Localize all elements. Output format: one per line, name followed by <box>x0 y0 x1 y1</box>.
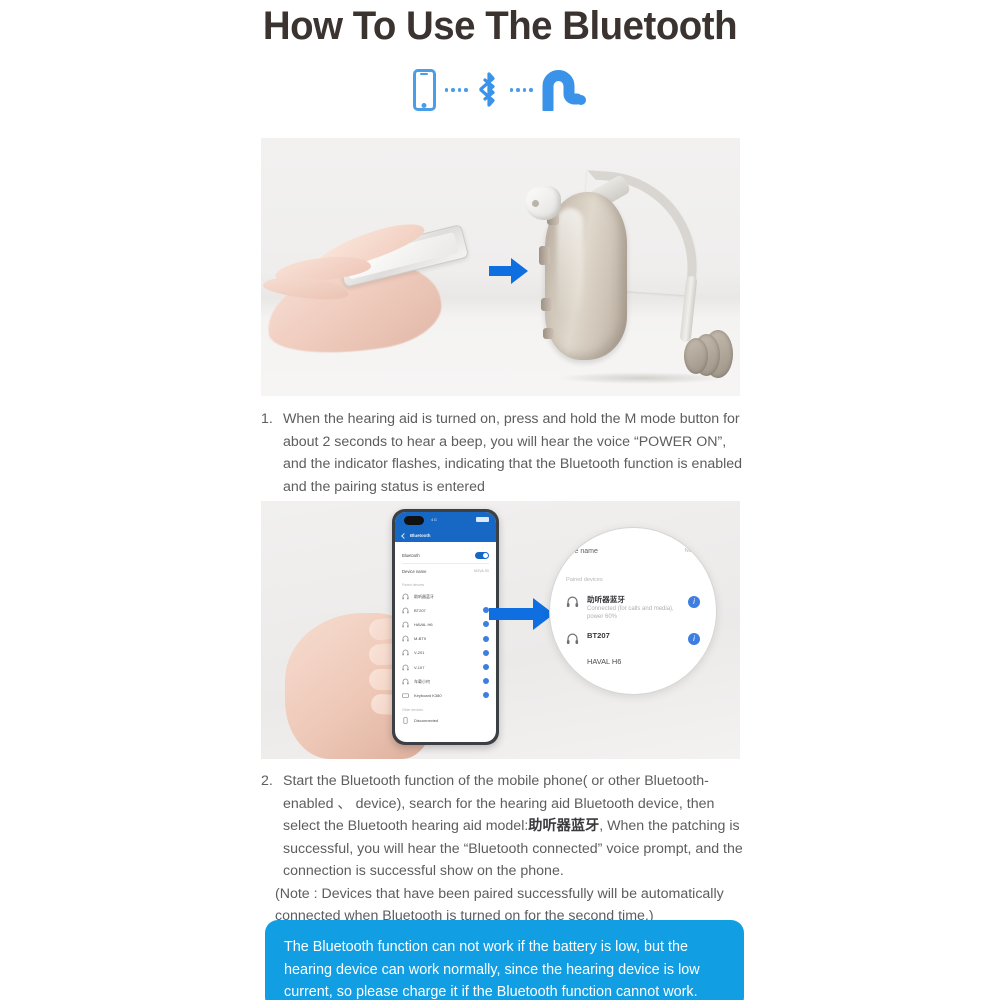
list-item[interactable]: 助听器蓝牙 <box>402 589 489 603</box>
info-icon[interactable] <box>483 636 489 642</box>
device-name: 助听器蓝牙 <box>587 594 680 605</box>
device-name: HAVAL H6 <box>566 650 700 666</box>
page-title: How To Use The Bluetooth <box>20 4 980 49</box>
signal-indicator: 4G <box>431 517 437 522</box>
dots-connector-right <box>510 88 533 92</box>
battery-warning-callout: The Bluetooth function can not work if t… <box>265 920 744 1000</box>
device-name: BT207 <box>587 631 680 640</box>
row-label: Bluetooth <box>402 553 420 558</box>
info-icon[interactable] <box>688 596 700 608</box>
volume-button <box>541 298 552 311</box>
instruction-2-number: 2. <box>261 770 273 793</box>
back-arrow-icon[interactable] <box>401 533 407 539</box>
paired-section-label: Paired devices <box>566 555 700 589</box>
list-item[interactable]: Disconnected <box>402 714 489 728</box>
list-item[interactable]: BT207 <box>566 626 700 650</box>
instruction-1-number: 1. <box>261 408 273 431</box>
list-item[interactable]: 助听器蓝牙 Connected (for calls and media), p… <box>566 589 700 626</box>
callout-text: The Bluetooth function can not work if t… <box>284 939 700 1000</box>
headphone-icon <box>402 649 409 656</box>
headphone-icon <box>402 664 409 671</box>
info-icon[interactable] <box>483 650 489 656</box>
row-value: NOVA S0 <box>474 569 489 573</box>
headphone-icon <box>402 635 409 642</box>
magnified-view: vice name NOVA Paired devices 助听器蓝牙 Conn… <box>549 527 717 695</box>
list-item[interactable]: V-107 <box>402 660 489 674</box>
settings-title: Bluetooth <box>410 533 431 538</box>
headphone-icon <box>402 678 409 685</box>
info-icon[interactable] <box>688 633 700 645</box>
bluetooth-model-name: 助听器蓝牙 <box>528 818 599 834</box>
list-item[interactable]: M-BT9 <box>402 632 489 646</box>
list-item[interactable]: BT207 <box>402 603 489 617</box>
device-icon <box>402 717 409 724</box>
instruction-1-text: When the hearing aid is turned on, press… <box>283 411 742 495</box>
device-name: 助听器蓝牙 <box>414 594 489 599</box>
phone-icon <box>413 69 436 111</box>
pointing-arrow-icon <box>489 597 555 631</box>
row-label: Device name <box>402 569 426 574</box>
device-name: Disconnected <box>414 718 489 723</box>
battery-icon <box>476 517 489 522</box>
smartphone-device: 4G Bluetooth Bluetooth Device name NOVA <box>392 509 499 745</box>
phone-bluetooth-photo: 4G Bluetooth Bluetooth Device name NOVA <box>261 501 740 759</box>
list-item[interactable]: HAVAL H6 <box>402 617 489 631</box>
info-icon[interactable] <box>483 664 489 670</box>
headphone-icon <box>566 632 579 645</box>
bluetooth-toggle[interactable] <box>475 552 489 559</box>
magnified-device-name-row: vice name NOVA <box>566 542 700 555</box>
device-name: V-107 <box>414 665 478 670</box>
icon-strip <box>0 62 1000 118</box>
list-item[interactable]: 车载小何 <box>402 674 489 688</box>
device-info: 助听器蓝牙 Connected (for calls and media), p… <box>587 594 680 621</box>
device-name: V-201 <box>414 650 478 655</box>
page-root: How To Use The Bluetooth <box>0 0 1000 1000</box>
instruction-2: 2.Start the Bluetooth function of the mo… <box>261 770 753 928</box>
instruction-1: 1.When the hearing aid is turned on, pre… <box>261 408 753 498</box>
keyboard-icon <box>402 692 409 699</box>
headphone-icon <box>402 607 409 614</box>
headphone-icon <box>402 621 409 628</box>
device-status: Connected (for calls and media), power 6… <box>587 605 680 621</box>
status-bar: 4G <box>395 512 496 529</box>
bluetooth-toggle-row[interactable]: Bluetooth <box>402 547 489 563</box>
info-icon[interactable] <box>483 692 489 698</box>
bluetooth-settings-header: Bluetooth <box>395 529 496 542</box>
device-name: Keyboard K380 <box>414 693 478 698</box>
hearing-aid-device <box>523 166 735 390</box>
hearing-aid-icon <box>542 69 588 111</box>
device-name: HAVAL H6 <box>414 622 478 627</box>
paired-section-label: Paired devices <box>402 578 489 589</box>
headphone-icon <box>566 595 579 608</box>
battery-contact <box>543 328 554 339</box>
info-icon[interactable] <box>483 678 489 684</box>
device-name: BT207 <box>414 608 478 613</box>
device-name-row[interactable]: Device name NOVA S0 <box>402 564 489 578</box>
device-name: 车载小何 <box>414 679 478 684</box>
device-name: M-BT9 <box>414 636 478 641</box>
dots-connector-left <box>445 88 468 92</box>
other-section-label: Other devices <box>402 703 489 714</box>
list-item[interactable]: Keyboard K380 <box>402 688 489 702</box>
phone-screen: 4G Bluetooth Bluetooth Device name NOVA <box>395 512 496 742</box>
headphone-icon <box>402 593 409 600</box>
list-item[interactable]: V-201 <box>402 646 489 660</box>
tube-coil <box>663 326 735 386</box>
hearing-aid-photo <box>261 138 740 396</box>
hands-with-phone <box>261 214 501 354</box>
camera-punch-hole <box>404 516 424 525</box>
bluetooth-icon <box>477 70 501 110</box>
device-info: BT207 <box>587 631 680 640</box>
ear-dome <box>525 186 561 220</box>
m-mode-button <box>539 246 550 265</box>
